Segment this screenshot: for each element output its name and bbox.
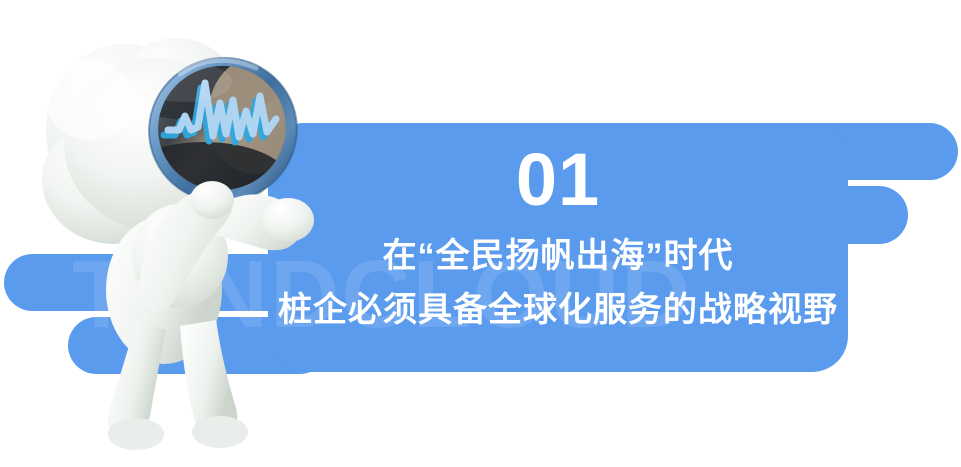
headline-block: 01 在“全民扬帆出海”时代 桩企必须具备全球化服务的战略视野	[268, 130, 848, 366]
headline-line-2: 桩企必须具备全球化服务的战略视野	[278, 284, 838, 336]
slide-canvas: TENDCLOUD 01 在“全民扬帆出海”时代 桩企必须具备全球化服务的战略视…	[0, 0, 961, 467]
headline-line-1: 在“全民扬帆出海”时代	[383, 230, 734, 282]
cloud-robot-mascot	[4, 4, 344, 464]
section-number: 01	[516, 140, 600, 220]
